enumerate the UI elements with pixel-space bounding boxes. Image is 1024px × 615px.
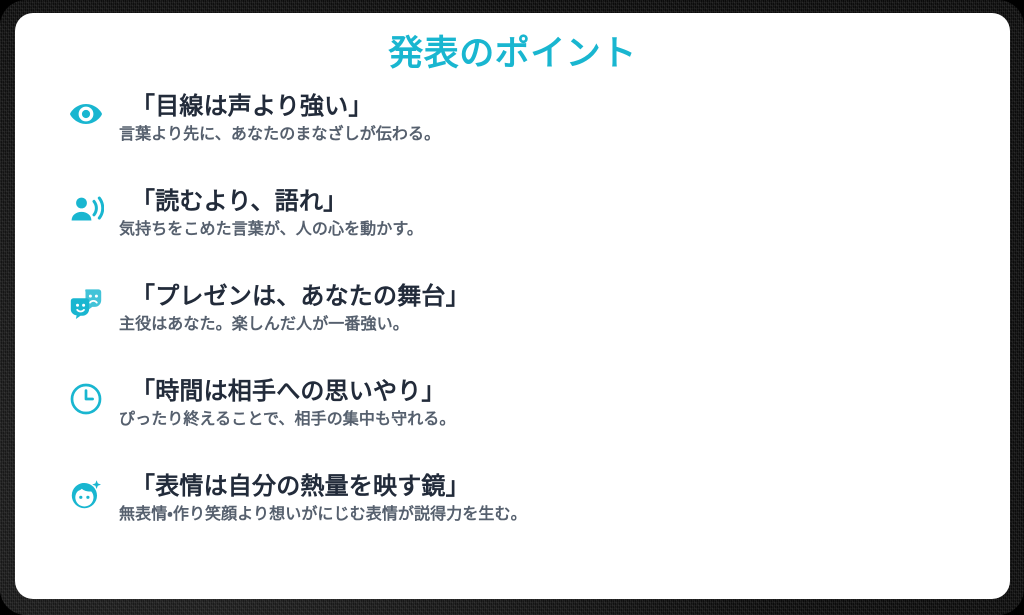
sparkling-face-icon — [68, 476, 104, 512]
point-description: 言葉より先に、あなたのまなざしが伝わる。 — [119, 125, 980, 146]
point-description: ぴったり終えることで、相手の集中も守れる。 — [119, 410, 980, 431]
point-title: 「プレゼンは、あなたの舞台」 — [131, 282, 980, 311]
slide-frame: 発表のポイント 「目線は声より強い」 言葉より先に、あなたのまなざしが伝わる。 — [0, 0, 1024, 615]
point-description: 主役はあなた。楽しんだ人が一番強い。 — [119, 315, 980, 336]
point-item: 「表情は自分の熱量を映す鏡」 無表情・作り笑顔より想いがにじむ表情が説得力を生む… — [15, 472, 1010, 544]
slide-card: 発表のポイント 「目線は声より強い」 言葉より先に、あなたのまなざしが伝わる。 — [15, 13, 1010, 599]
point-body: 「目線は声より強い」 言葉より先に、あなたのまなざしが伝わる。 — [68, 92, 980, 145]
clock-icon — [68, 381, 104, 417]
point-title: 「表情は自分の熱量を映す鏡」 — [131, 472, 980, 501]
point-title: 「読むより、語れ」 — [131, 187, 980, 216]
theater-masks-icon — [68, 286, 104, 322]
point-body: 「表情は自分の熱量を映す鏡」 無表情・作り笑顔より想いがにじむ表情が説得力を生む… — [68, 472, 980, 525]
point-item: 「時間は相手への思いやり」 ぴったり終えることで、相手の集中も守れる。 — [15, 377, 1010, 449]
point-body: 「時間は相手への思いやり」 ぴったり終えることで、相手の集中も守れる。 — [68, 377, 980, 430]
person-speaking-icon — [68, 191, 104, 227]
point-item: 「目線は声より強い」 言葉より先に、あなたのまなざしが伝わる。 — [15, 92, 1010, 164]
point-body: 「読むより、語れ」 気持ちをこめた言葉が、人の心を動かす。 — [68, 187, 980, 240]
points-list: 「目線は声より強い」 言葉より先に、あなたのまなざしが伝わる。 「読むより、語れ… — [15, 74, 1010, 544]
point-body: 「プレゼンは、あなたの舞台」 主役はあなた。楽しんだ人が一番強い。 — [68, 282, 980, 335]
point-title: 「時間は相手への思いやり」 — [131, 377, 980, 406]
point-item: 「プレゼンは、あなたの舞台」 主役はあなた。楽しんだ人が一番強い。 — [15, 282, 1010, 354]
point-item: 「読むより、語れ」 気持ちをこめた言葉が、人の心を動かす。 — [15, 187, 1010, 259]
point-title: 「目線は声より強い」 — [131, 92, 980, 121]
point-description: 気持ちをこめた言葉が、人の心を動かす。 — [119, 220, 980, 241]
point-description: 無表情・作り笑顔より想いがにじむ表情が説得力を生む。 — [119, 505, 980, 526]
page-title: 発表のポイント — [15, 13, 1010, 74]
eye-icon — [68, 96, 104, 132]
